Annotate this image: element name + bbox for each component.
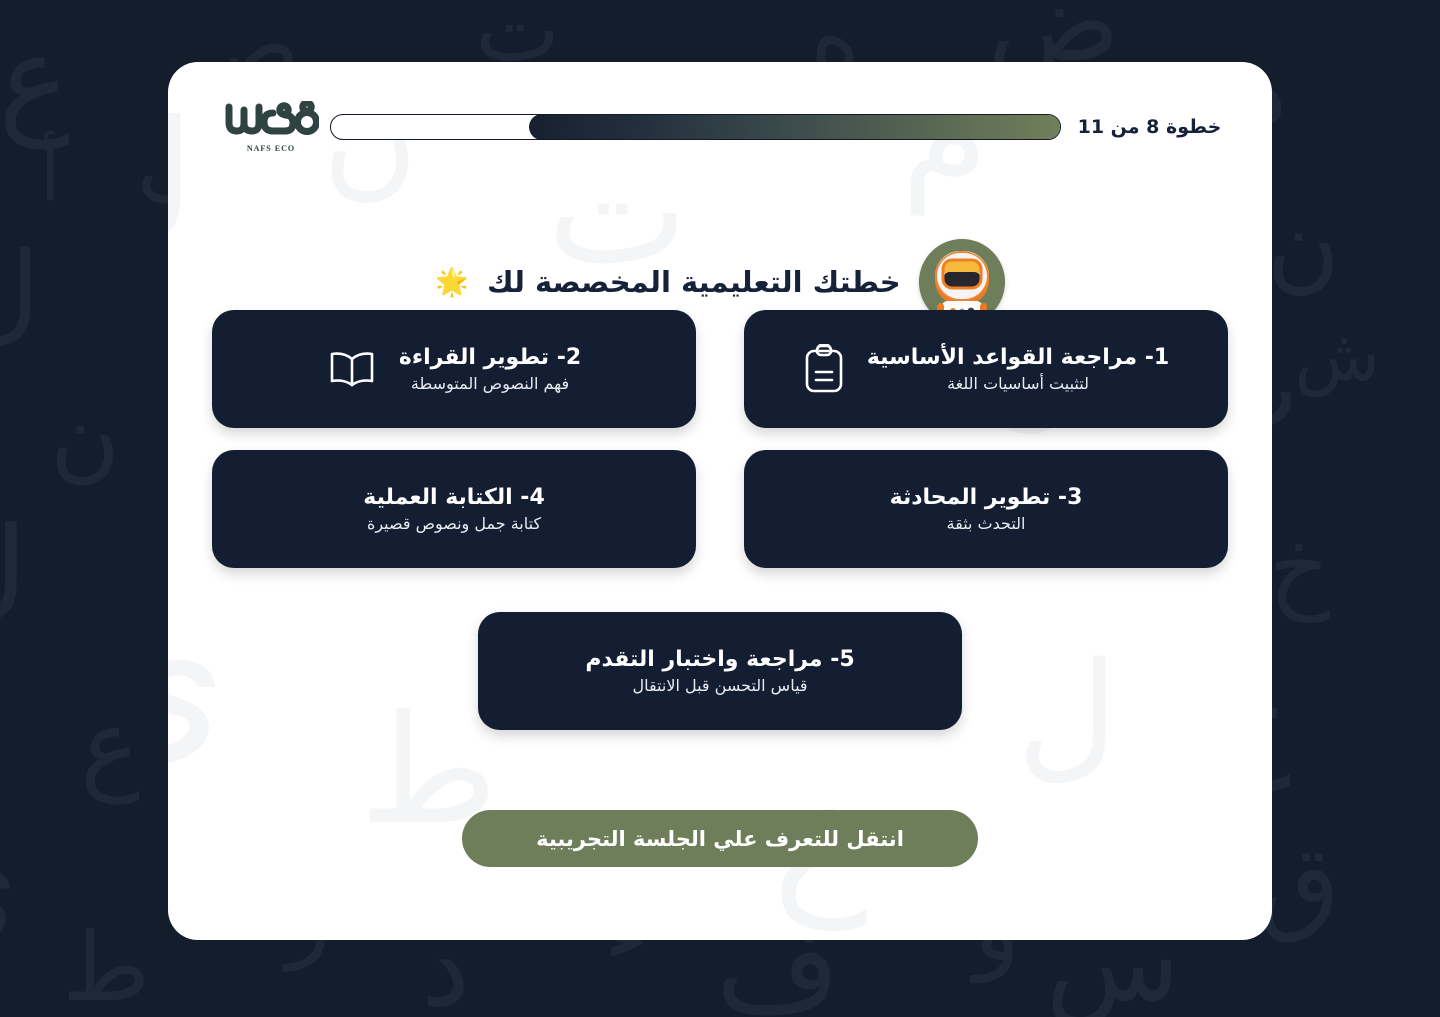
nafs-logo-subtext: NAFS ECO (247, 144, 295, 153)
plan-card[interactable]: 1- مراجعة القواعد الأساسية لتثبيت أساسيا… (744, 310, 1228, 428)
svg-text:أ: أ (41, 130, 60, 217)
plan-card-subtitle: فهم النصوص المتوسطة (411, 374, 569, 393)
nafs-wordmark-icon (223, 101, 319, 143)
svg-text:ن: ن (1267, 187, 1340, 304)
svg-text:ك: ك (0, 499, 30, 651)
plan-card-text: 2- تطوير القراءة فهم النصوص المتوسطة (399, 345, 581, 393)
plan-card[interactable]: 4- الكتابة العملية كتابة جمل ونصوص قصيرة (212, 450, 696, 568)
svg-text:ى: ى (0, 792, 20, 966)
progress-bar-fill (529, 114, 1061, 140)
star-icon: 🌟 (435, 269, 469, 296)
plan-card[interactable]: 5- مراجعة واختبار التقدم قياس التحسن قبل… (478, 612, 962, 730)
panel-header: خطوة 8 من 11 NAFS ECO (212, 105, 1232, 149)
main-panel: ك ن ت م ى ط ع ل س خطوة 8 من 11 (168, 62, 1272, 940)
plan-card-subtitle: لتثبيت أساسيات اللغة (947, 374, 1089, 393)
plan-card-subtitle: قياس التحسن قبل الانتقال (632, 676, 807, 695)
progress-bar[interactable] (330, 114, 1061, 140)
clipboard-icon (803, 344, 845, 394)
plan-card-title: 1- مراجعة القواعد الأساسية (867, 345, 1169, 370)
cta-row: انتقل للتعرف علي الجلسة التجريبية (168, 810, 1272, 867)
plan-card-text: 3- تطوير المحادثة التحدث بثقة (890, 485, 1083, 533)
svg-text:ن: ن (50, 383, 120, 493)
plan-card-title: 2- تطوير القراءة (399, 345, 581, 370)
plan-card-row-center: 5- مراجعة واختبار التقدم قياس التحسن قبل… (212, 612, 1228, 730)
plan-card-title: 5- مراجعة واختبار التقدم (585, 647, 854, 672)
continue-to-trial-session-button[interactable]: انتقل للتعرف علي الجلسة التجريبية (462, 810, 978, 867)
plan-card-text: 4- الكتابة العملية كتابة جمل ونصوص قصيرة (363, 485, 544, 533)
svg-text:ش: ش (1295, 315, 1380, 397)
plan-card-subtitle: كتابة جمل ونصوص قصيرة (367, 514, 541, 533)
page-title: خطتك التعليمية المخصصة لك (487, 265, 901, 299)
svg-text:ط: ط (62, 913, 150, 1017)
plan-card[interactable]: 3- تطوير المحادثة التحدث بثقة (744, 450, 1228, 568)
svg-text:خ: خ (1269, 513, 1331, 623)
svg-text:ل: ل (0, 228, 40, 356)
open-book-icon (327, 348, 377, 390)
svg-text:ع: ع (80, 687, 140, 804)
plan-card-title: 4- الكتابة العملية (363, 485, 544, 510)
plan-card-text: 1- مراجعة القواعد الأساسية لتثبيت أساسيا… (867, 345, 1169, 393)
plan-card-subtitle: التحدث بثقة (947, 514, 1026, 533)
plan-card[interactable]: 2- تطوير القراءة فهم النصوص المتوسطة (212, 310, 696, 428)
step-indicator-label: خطوة 8 من 11 (1067, 116, 1232, 138)
svg-text:ع: ع (0, 10, 70, 149)
plan-card-title: 3- تطوير المحادثة (890, 485, 1083, 510)
nafs-logo: NAFS ECO (212, 101, 330, 153)
plan-cards-grid: 1- مراجعة القواعد الأساسية لتثبيت أساسيا… (212, 310, 1228, 730)
plan-card-text: 5- مراجعة واختبار التقدم قياس التحسن قبل… (585, 647, 854, 695)
